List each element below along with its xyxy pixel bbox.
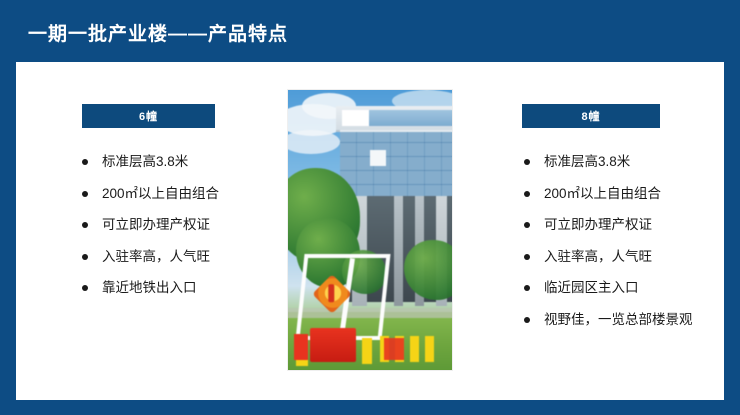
list-item: 入驻率高，人气旺 [518, 249, 740, 265]
list-item: 视野佳，一览总部楼景观 [518, 312, 740, 328]
column-left: 6幢 标准层高3.8米 200㎡以上自由组合 可立即办理产权证 入驻率高，人气旺… [66, 62, 301, 312]
list-item: 200㎡以上自由组合 [76, 186, 301, 202]
photo-canvas [288, 90, 452, 370]
list-item: 可立即办理产权证 [76, 217, 301, 233]
column-right-header: 8幢 [522, 104, 660, 128]
list-item: 可立即办理产权证 [518, 217, 740, 233]
column-right-bullet-list: 标准层高3.8米 200㎡以上自由组合 可立即办理产权证 入驻率高，人气旺 临近… [518, 154, 740, 327]
building-roof-level [336, 106, 452, 132]
building-glass-facade [340, 130, 452, 201]
ground-signage-red [310, 328, 356, 362]
column-left-bullet-list: 标准层高3.8米 200㎡以上自由组合 可立即办理产权证 入驻率高，人气旺 靠近… [76, 154, 301, 296]
list-item: 靠近地铁出入口 [76, 280, 301, 296]
list-item: 标准层高3.8米 [76, 154, 301, 170]
list-item: 入驻率高，人气旺 [76, 249, 301, 265]
column-left-header: 6幢 [82, 104, 215, 128]
ground-signage-text-block [380, 336, 436, 362]
page-title: 一期一批产业楼——产品特点 [28, 19, 288, 46]
building-pillar [394, 196, 403, 306]
building-photo [288, 90, 452, 370]
cloud-shape [288, 130, 340, 154]
slide-root: 一期一批产业楼——产品特点 6幢 标准层高3.8米 200㎡以上自由组合 可立即… [0, 0, 740, 415]
list-item: 200㎡以上自由组合 [518, 186, 740, 202]
column-right: 8幢 标准层高3.8米 200㎡以上自由组合 可立即办理产权证 入驻率高，人气旺… [506, 62, 740, 343]
list-item: 标准层高3.8米 [518, 154, 740, 170]
ground-signage-yellow [362, 338, 372, 364]
slide-canvas: 6幢 标准层高3.8米 200㎡以上自由组合 可立即办理产权证 入驻率高，人气旺… [16, 62, 724, 400]
list-item: 临近园区主入口 [518, 280, 740, 296]
